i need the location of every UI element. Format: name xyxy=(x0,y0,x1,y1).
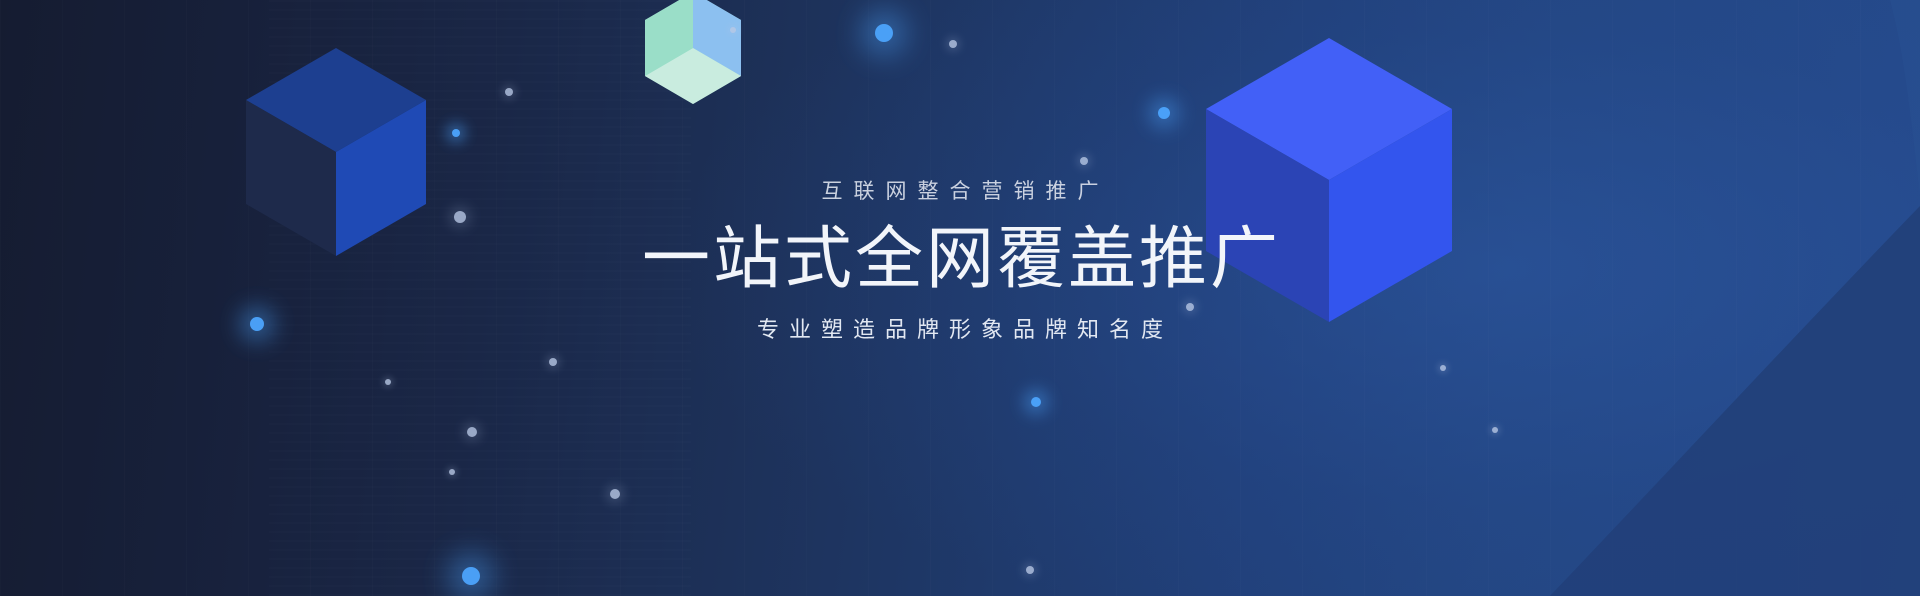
cube-mint-top xyxy=(645,0,741,104)
banner-headline: 一站式全网覆盖推广 xyxy=(0,219,1920,299)
promo-banner: 互联网整合营销推广 一站式全网覆盖推广 专业塑造品牌形象品牌知名度 xyxy=(0,0,1920,596)
banner-subline: 专业塑造品牌形象品牌知名度 xyxy=(0,316,1920,345)
banner-eyebrow: 互联网整合营销推广 xyxy=(0,178,1920,205)
banner-copy: 互联网整合营销推广 一站式全网覆盖推广 专业塑造品牌形象品牌知名度 xyxy=(0,178,1920,344)
